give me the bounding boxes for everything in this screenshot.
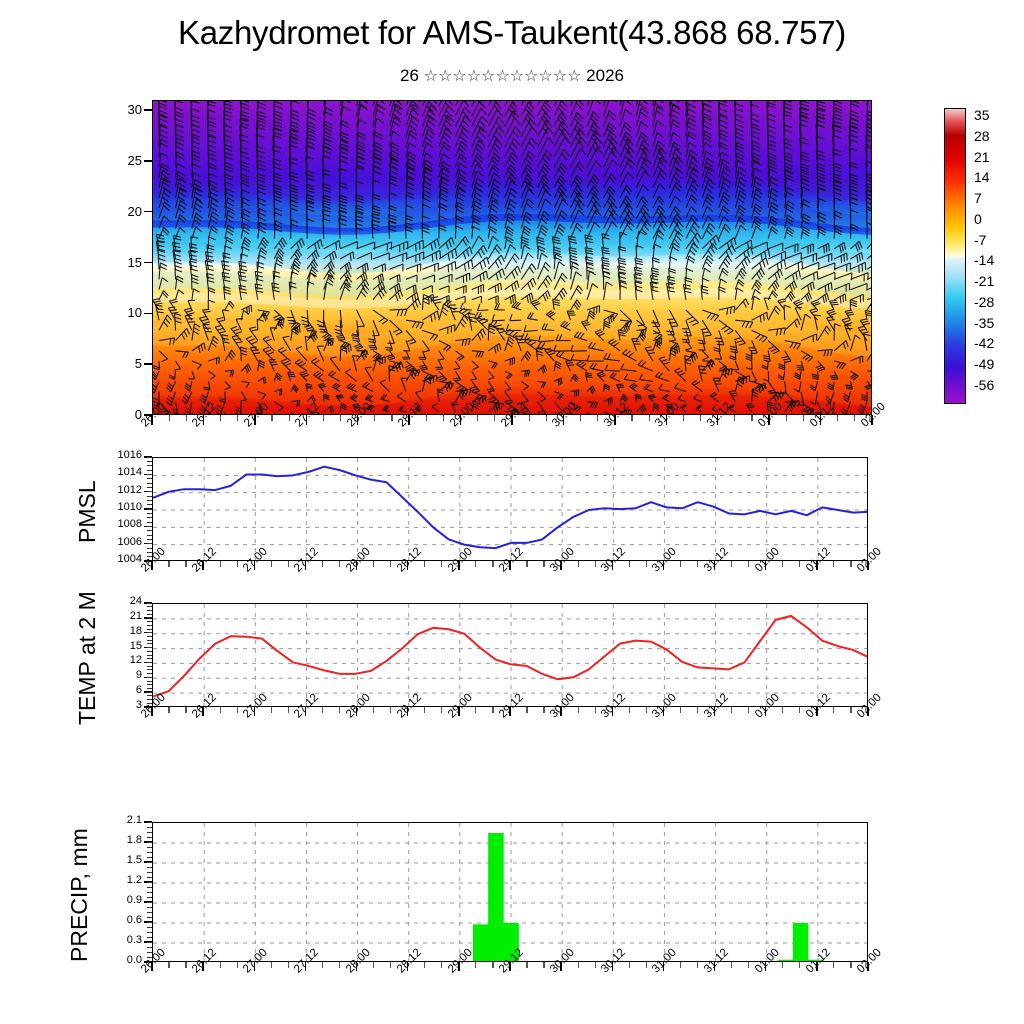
pmsl-axis-title: PMSL <box>74 480 101 543</box>
precip-bar <box>473 924 489 962</box>
colorbar-tick-label: 28 <box>974 128 990 144</box>
colorbar-tick-label: 21 <box>974 149 990 165</box>
precip-bar <box>808 960 824 962</box>
pmsl-line-canvas <box>153 458 868 561</box>
colorbar-tick-label: -42 <box>974 335 994 351</box>
colorbar-tick-label: -28 <box>974 294 994 310</box>
temp-plot-area <box>152 603 868 707</box>
precip-plot-area <box>152 822 868 962</box>
colorbar-tick-label: -49 <box>974 356 994 372</box>
colorbar-tick-label: -7 <box>974 232 986 248</box>
colorbar-tick-label: 35 <box>974 107 990 123</box>
colorbar-tick-label: -14 <box>974 252 994 268</box>
colorbar-tick-label: -56 <box>974 377 994 393</box>
series-line <box>153 616 868 697</box>
precip-bar-canvas <box>153 823 868 962</box>
temp-axis-title: TEMP at 2 M <box>74 591 101 725</box>
colorbar-tick-label: -21 <box>974 273 994 289</box>
weather-forecast-page: Kazhydromet for AMS-Taukent(43.868 68.75… <box>0 0 1024 1024</box>
precip-bar <box>488 833 504 962</box>
precip-bar <box>503 923 519 962</box>
pmsl-plot-area <box>152 457 868 561</box>
temp-line-canvas <box>153 604 868 707</box>
precip-bar <box>778 960 794 962</box>
colorbar-tick-label: 7 <box>974 190 982 206</box>
precip-axis-title: PRECIP, mm <box>66 828 93 962</box>
precip-bar <box>793 923 809 962</box>
colorbar-tick-label: -35 <box>974 315 994 331</box>
colorbar-tick-label: 0 <box>974 211 982 227</box>
colorbar-tick-label: 14 <box>974 169 990 185</box>
